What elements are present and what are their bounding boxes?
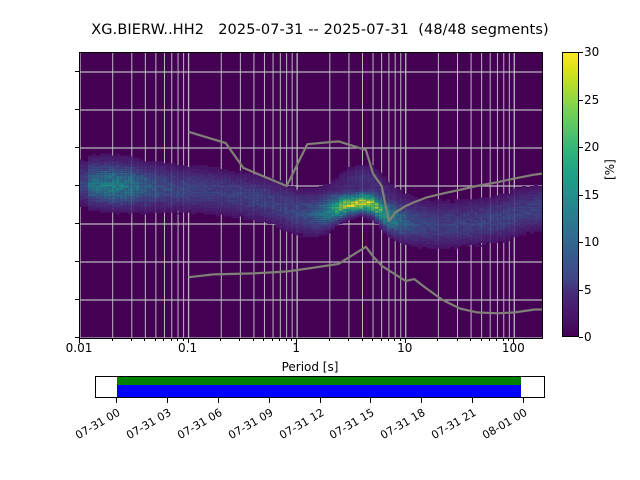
coverage-tick-label: 07-31 09 (215, 406, 275, 448)
colorbar-tick-label: 15 (584, 188, 599, 202)
coverage-timeline (95, 376, 545, 398)
x-axis-tick-mark (362, 338, 363, 341)
colorbar-tick-label: 10 (584, 235, 599, 249)
coverage-tick-label: 07-31 12 (266, 406, 326, 448)
colorbar (562, 52, 579, 337)
x-axis-tick-mark (470, 338, 471, 341)
colorbar-tick-mark (579, 100, 583, 101)
x-axis-tick-label: 10 (397, 341, 412, 355)
x-axis-tick-mark (220, 338, 221, 341)
x-axis-tick-label: 100 (502, 341, 525, 355)
colorbar-tick-mark (579, 195, 583, 196)
y-axis-tick-mark (75, 223, 79, 224)
coverage-tick-mark (370, 398, 371, 403)
coverage-tick-label: 07-31 03 (113, 406, 173, 448)
y-axis-tick-mark (75, 261, 79, 262)
x-axis-tick-mark (144, 338, 145, 341)
colorbar-tick-mark (579, 242, 583, 243)
coverage-tick-label: 07-31 15 (317, 406, 377, 448)
y-axis-tick-mark (75, 147, 79, 148)
colorbar-label: [%] (603, 159, 617, 180)
x-axis-tick-mark (381, 338, 382, 341)
colorbar-tick-mark (579, 337, 583, 338)
colorbar-tick-label: 20 (584, 140, 599, 154)
coverage-tick-mark (472, 398, 473, 403)
y-axis-tick-mark (75, 185, 79, 186)
x-axis-tick-mark (131, 338, 132, 341)
x-axis-tick-mark (286, 338, 287, 341)
x-axis-tick-mark (348, 338, 349, 341)
colorbar-tick-label: 30 (584, 45, 599, 59)
y-axis-tick-mark (75, 109, 79, 110)
y-axis-tick-mark (75, 299, 79, 300)
coverage-tick-label: 07-31 06 (164, 406, 224, 448)
x-axis-tick-mark (372, 338, 373, 341)
x-axis-tick-mark (496, 338, 497, 341)
colorbar-tick-label: 0 (584, 330, 592, 344)
coverage-tick-label: 07-31 21 (418, 406, 478, 448)
colorbar-tick-mark (579, 147, 583, 148)
x-axis-tick-mark (437, 338, 438, 341)
x-axis-tick-label: 1 (292, 341, 300, 355)
ppsd-plot-figure: XG.BIERW..HH2 2025-07-31 -- 2025-07-31 (… (0, 0, 640, 480)
y-axis-label: Amplitude [m2/s4/Hz] [dB] (0, 0, 4, 46)
coverage-tick-mark (269, 398, 270, 403)
colorbar-tick-mark (579, 290, 583, 291)
x-axis-tick-mark (239, 338, 240, 341)
coverage-tick-label: 07-31 18 (368, 406, 428, 448)
coverage-tick-mark (421, 398, 422, 403)
x-axis-tick-mark (388, 338, 389, 341)
coverage-tick-mark (116, 398, 117, 403)
x-axis-tick-mark (394, 338, 395, 341)
x-axis-tick-mark (457, 338, 458, 341)
x-axis-tick-mark (112, 338, 113, 341)
coverage-tick-mark (167, 398, 168, 403)
nhnm-curve (189, 132, 542, 221)
x-axis-tick-mark (253, 338, 254, 341)
colorbar-tick-label: 5 (584, 283, 592, 297)
noise-model-svg (80, 53, 542, 338)
x-axis-tick-mark (279, 338, 280, 341)
x-axis-tick-mark (263, 338, 264, 341)
x-axis-tick-label: 0.1 (178, 341, 197, 355)
coverage-bar-blue (117, 385, 521, 397)
coverage-bar-green (117, 377, 521, 385)
noise-model-curves (80, 53, 542, 338)
x-axis-tick-mark (163, 338, 164, 341)
nlnm-curve (189, 247, 542, 313)
ppsd-axes (79, 52, 543, 339)
x-axis-tick-mark (171, 338, 172, 341)
coverage-tick-label: 08-01 00 (469, 406, 529, 448)
y-axis-tick-mark (75, 337, 79, 338)
coverage-tick-mark (320, 398, 321, 403)
x-axis-tick-mark (329, 338, 330, 341)
colorbar-tick-label: 25 (584, 93, 599, 107)
coverage-tick-label: 07-31 00 (62, 406, 122, 448)
colorbar-tick-mark (579, 52, 583, 53)
coverage-tick-mark (523, 398, 524, 403)
x-axis-tick-mark (481, 338, 482, 341)
x-axis-tick-mark (272, 338, 273, 341)
y-axis-tick-mark (75, 71, 79, 72)
x-axis-tick-mark (489, 338, 490, 341)
coverage-tick-mark (218, 398, 219, 403)
x-axis-label: Period [s] (79, 360, 541, 374)
x-axis-tick-label: 0.01 (66, 341, 93, 355)
page-title: XG.BIERW..HH2 2025-07-31 -- 2025-07-31 (… (0, 22, 640, 38)
x-axis-tick-mark (155, 338, 156, 341)
